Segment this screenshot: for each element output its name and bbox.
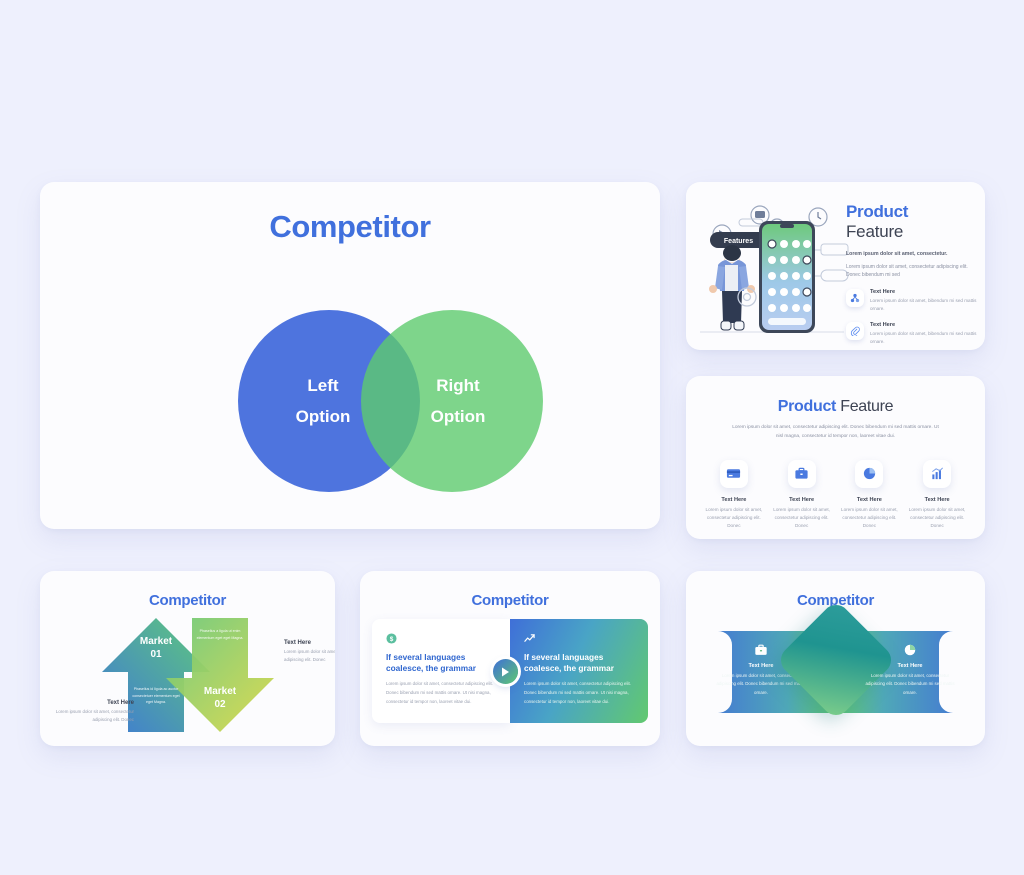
pf2-column[interactable]: Text Here Lorem ipsum dolor sit amet, co…	[838, 460, 900, 531]
panel-right-heading: If several languages coalesce, the gramm…	[524, 652, 634, 674]
slide-card-product-feature-illustration[interactable]: Features	[686, 182, 985, 350]
slide-card-panels[interactable]: Competitor $ If several languages coales…	[360, 571, 660, 746]
panel-left[interactable]: $ If several languages coalesce, the gra…	[372, 619, 510, 723]
play-icon	[501, 667, 510, 677]
pf1-item-title: Text Here	[870, 289, 978, 295]
pf1-item-body: Lorem ipsum dolor sit amet, bibendum mi …	[870, 330, 978, 346]
pf2-column[interactable]: Text Here Lorem ipsum dolor sit amet, co…	[906, 460, 968, 531]
slide-gallery: Competitor Left Option Right Option	[0, 0, 1024, 875]
page-title: Competitor	[40, 592, 335, 609]
slide-card-venn[interactable]: Competitor Left Option Right Option	[40, 182, 660, 529]
arrows-text-block-left: Text Here Lorem ipsum dolor sit amet, co…	[46, 700, 134, 724]
pf2-heading: Text Here	[838, 497, 900, 503]
pf1-item[interactable]: Text Here Lorem ipsum dolor sit amet, bi…	[846, 322, 978, 346]
play-button[interactable]	[493, 659, 518, 684]
venn-diagram: Left Option Right Option	[238, 310, 543, 492]
pf2-body: Lorem ipsum dolor sit amet, consectetur …	[838, 506, 900, 531]
pf2-title: Product Feature	[686, 398, 985, 416]
arrows-text-block-right: Text Here Lorem ipsum dolor sit amet, co…	[284, 640, 335, 664]
panel-right-body: Lorem ipsum dolor sit amet, consectetur …	[524, 680, 634, 706]
diamond-block-right: Text Here Lorem ipsum dolor sit amet, co…	[862, 643, 958, 697]
arrows-right-body: Lorem ipsum dolor sit amet, consectetur …	[284, 648, 335, 664]
pf2-column[interactable]: Text Here Lorem ipsum dolor sit amet, co…	[703, 460, 765, 531]
pf1-sub: Lorem ipsum dolor sit amet, consectetur …	[846, 263, 978, 281]
arrows-left-heading: Text Here	[46, 700, 134, 706]
venn-circle-right[interactable]	[361, 310, 543, 492]
diamond-right-heading: Text Here	[862, 663, 958, 669]
pf1-item-body: Lorem ipsum dolor sit amet, bibendum mi …	[870, 297, 978, 313]
slide-card-product-feature-icons[interactable]: Product Feature Lorem ipsum dolor sit am…	[686, 376, 985, 539]
diamond-right-body: Lorem ipsum dolor sit amet, consectetur …	[862, 672, 958, 697]
slide-card-diamond[interactable]: Competitor Text Here Lorem ipsum dolor s…	[686, 571, 985, 746]
pf1-title-light: Feature	[846, 222, 978, 242]
briefcase-icon	[754, 643, 768, 657]
pie-chart-icon	[903, 643, 917, 657]
pf2-title-light: Feature	[840, 398, 893, 415]
pf2-sub: Lorem ipsum dolor sit amet, consectetur …	[731, 424, 941, 442]
pf2-heading: Text Here	[703, 497, 765, 503]
pf2-heading: Text Here	[906, 497, 968, 503]
page-title: Competitor	[40, 209, 660, 245]
product-feature-text: Product Feature Lorem ipsum dolor sit am…	[846, 203, 978, 345]
slide-card-arrows[interactable]: Competitor Market 01 Phasellus id ligu	[40, 571, 335, 746]
arrows-right-heading: Text Here	[284, 640, 335, 646]
pf2-grid: Text Here Lorem ipsum dolor sit amet, co…	[686, 460, 985, 531]
pf1-lead: Lorem ipsum dolor sit amet, consectetur.	[846, 250, 978, 258]
pf2-title-bold: Product	[778, 398, 836, 415]
pf2-body: Lorem ipsum dolor sit amet, consectetur …	[906, 506, 968, 531]
svg-text:$: $	[390, 636, 394, 643]
paperclip-icon	[846, 322, 864, 340]
pf1-item-title: Text Here	[870, 322, 978, 328]
share-network-icon	[846, 289, 864, 307]
pf2-column[interactable]: Text Here Lorem ipsum dolor sit amet, co…	[771, 460, 833, 531]
svg-text:Features: Features	[724, 238, 753, 245]
panel-group: $ If several languages coalesce, the gra…	[372, 619, 648, 723]
page-title: Competitor	[360, 592, 660, 609]
dollar-badge-icon: $	[386, 633, 397, 644]
trend-up-icon	[524, 633, 535, 644]
pf1-item[interactable]: Text Here Lorem ipsum dolor sit amet, bi…	[846, 289, 978, 313]
arrows-left-body: Lorem ipsum dolor sit amet, consectetur …	[46, 708, 134, 724]
pf1-title-bold: Product	[846, 203, 978, 221]
panel-left-body: Lorem ipsum dolor sit amet, consectetur …	[386, 680, 496, 706]
credit-card-icon	[720, 460, 748, 488]
pf2-body: Lorem ipsum dolor sit amet, consectetur …	[771, 506, 833, 531]
product-illustration: Features	[694, 192, 849, 342]
bar-chart-icon	[923, 460, 951, 488]
pf2-body: Lorem ipsum dolor sit amet, consectetur …	[703, 506, 765, 531]
panel-right[interactable]: If several languages coalesce, the gramm…	[510, 619, 648, 723]
arrow-diagram: Market 01 Phasellus id ligula ac auctor …	[98, 614, 278, 736]
briefcase-icon	[788, 460, 816, 488]
pie-chart-icon	[855, 460, 883, 488]
pf2-heading: Text Here	[771, 497, 833, 503]
panel-left-heading: If several languages coalesce, the gramm…	[386, 652, 496, 674]
